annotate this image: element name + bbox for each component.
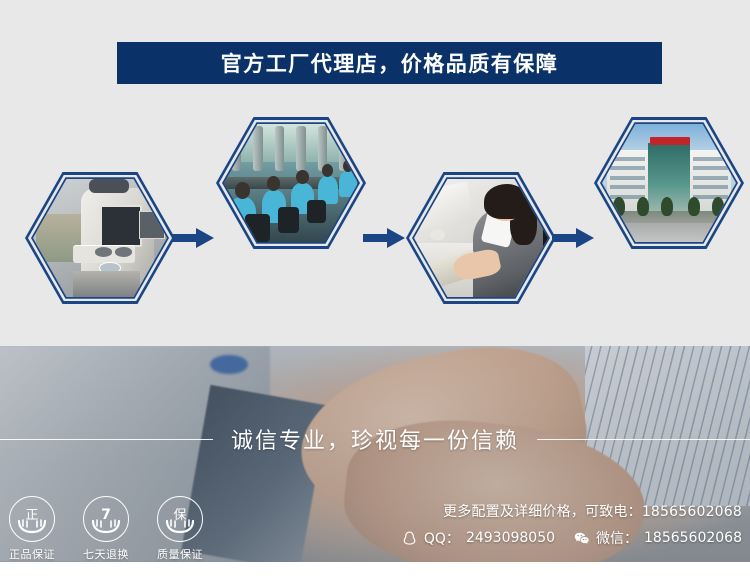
hands-zheng-icon: 正 [9, 496, 55, 542]
contact-block: 更多配置及详细价格，可致电：18565602068 QQ： 2493098050 [401, 501, 742, 548]
arrow-right-icon [552, 225, 594, 251]
tagline-text: 诚信专业，珍视每一份信赖 [213, 423, 537, 455]
qq-penguin-icon[interactable] [401, 530, 418, 547]
contact-im-line: QQ： 2493098050 微信： 18565602068 [401, 528, 742, 548]
building-window-row [693, 195, 728, 199]
worker-head [235, 182, 250, 198]
tagline-rule-right [537, 439, 750, 440]
equipment-base [73, 271, 140, 297]
equipment-dial-right [115, 247, 132, 256]
factory-chair [278, 207, 299, 233]
wechat-number: 18565602068 [644, 530, 742, 546]
hero-section: 诚信专业，珍视每一份信赖 正 正品保证 7 [0, 346, 750, 562]
process-step-factory [216, 117, 366, 249]
building-tree [661, 197, 673, 216]
contact-phone-line: 更多配置及详细价格，可致电：18565602068 [401, 501, 742, 521]
arrow-right-icon [172, 225, 214, 251]
tagline-row: 诚信专业，珍视每一份信赖 [0, 424, 750, 454]
building-rooftop-sign [650, 137, 690, 145]
building-window-row [610, 176, 645, 180]
header-banner: 官方工厂代理店，价格品质有保障 [117, 42, 662, 84]
bottom-white-strip [0, 562, 750, 576]
banner-title: 官方工厂代理店，价格品质有保障 [221, 48, 559, 78]
equipment-dial-left [95, 247, 112, 256]
building-window-row [693, 166, 728, 170]
factory-duct [296, 126, 305, 171]
guarantee-label: 七天退换 [83, 546, 129, 562]
office-monitor [414, 182, 473, 231]
building-window-row [610, 185, 645, 189]
office-mouse [430, 229, 445, 241]
worker-head [296, 170, 309, 184]
guarantee-badge-returns: 7 七天退换 [82, 496, 130, 562]
promo-page: 官方工厂代理店，价格品质有保障 [0, 0, 750, 576]
worker-head [322, 164, 333, 177]
factory-duct [253, 126, 262, 171]
guarantee-badge-quality: 保 质量保证 [156, 496, 204, 562]
guarantee-label: 正品保证 [9, 546, 55, 562]
wechat-label: 微信： [596, 528, 638, 548]
wechat-icon[interactable] [573, 530, 590, 547]
process-step-equipment [25, 172, 175, 304]
factory-chair [307, 200, 326, 224]
arrow-right-icon [363, 225, 405, 251]
qq-number: 2493098050 [466, 530, 555, 546]
process-step-service [406, 172, 556, 304]
qq-label: QQ： [424, 528, 460, 548]
process-section: 官方工厂代理店，价格品质有保障 [0, 0, 750, 346]
building-window-row [610, 166, 645, 170]
guarantee-label: 质量保证 [157, 546, 203, 562]
guarantee-badge-authentic: 正 正品保证 [8, 496, 56, 562]
building-tree [688, 197, 700, 216]
hands-seven-icon: 7 [83, 496, 129, 542]
factory-duct [275, 126, 284, 171]
hands-bao-icon: 保 [157, 496, 203, 542]
building-window-row [693, 185, 728, 189]
guarantee-badges: 正 正品保证 7 七天退换 [8, 496, 204, 562]
process-step-company [594, 117, 744, 249]
tagline-rule-left [0, 439, 213, 440]
equipment-monitor [100, 205, 142, 247]
building-window-row [693, 176, 728, 180]
equipment-top-arm [89, 179, 129, 193]
building-tree [637, 197, 649, 216]
svg-text:7: 7 [101, 507, 111, 523]
worker-head [267, 176, 281, 191]
